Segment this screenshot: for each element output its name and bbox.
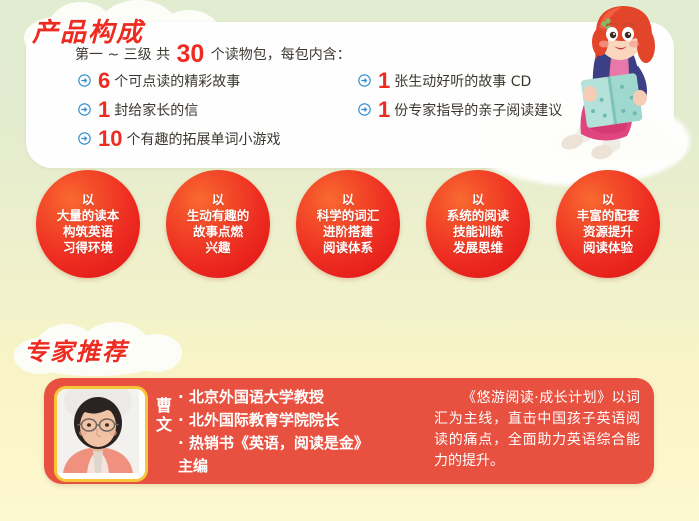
feature-lead: 以 xyxy=(577,192,640,208)
feature-circle-4: 以 系统的阅读 技能训练 发展思维 xyxy=(426,170,530,278)
feature-lead: 以 xyxy=(317,192,380,208)
feature-line: 习得环境 xyxy=(57,240,120,256)
product-bullets-left: 6 个可点读的精彩故事 1 封给家长的信 10 个有趣的拓展单词小游戏 xyxy=(78,66,368,153)
feature-circle-5-text: 以 丰富的配套 资源提升 阅读体验 xyxy=(577,192,640,256)
feature-lead: 以 xyxy=(447,192,510,208)
list-item-count: 6 xyxy=(98,70,110,92)
expert-quote: 《悠游阅读·成长计划》以词汇为主线，直击中国孩子英语阅读的痛点，全面助力英语综合… xyxy=(434,388,640,472)
expert-section-title: 专家推荐 xyxy=(24,332,128,367)
intro-prefix: 第一 ~ 三级 共 xyxy=(75,47,175,63)
feature-circle-3: 以 科学的词汇 进阶搭建 阅读体系 xyxy=(296,170,400,278)
credential-item: 主编 xyxy=(178,455,428,478)
girl-reading-book-illustration xyxy=(540,2,690,167)
list-item-label: 张生动好听的故事 CD xyxy=(394,71,531,91)
feature-line: 构筑英语 xyxy=(57,224,120,240)
product-intro-line: 第一 ~ 三级 共 30 个读物包，每包内含： xyxy=(75,40,351,69)
feature-line: 科学的词汇 xyxy=(317,208,380,224)
list-item-label: 个有趣的拓展单词小游戏 xyxy=(126,129,280,149)
feature-circle-row: 以 大量的读本 构筑英语 习得环境 以 生动有趣的 故事点燃 兴趣 以 科学的词… xyxy=(0,170,699,282)
list-item-count: 10 xyxy=(98,128,122,150)
feature-circle-2: 以 生动有趣的 故事点燃 兴趣 xyxy=(166,170,270,278)
feature-line: 资源提升 xyxy=(577,224,640,240)
promo-page: 产品构成 第一 ~ 三级 共 30 个读物包，每包内含： 6 个可点读的精彩故事… xyxy=(0,0,699,521)
expert-recommendation-card: 曹文 北京外国语大学教授 北外国际教育学院院长 热销书《英语，阅读是金》 主编 … xyxy=(44,378,654,484)
arrow-circle-icon xyxy=(78,74,91,87)
expert-portrait-frame xyxy=(54,386,148,482)
feature-line: 生动有趣的 xyxy=(187,208,250,224)
feature-line: 阅读体系 xyxy=(317,240,380,256)
feature-line: 进阶搭建 xyxy=(317,224,380,240)
feature-circle-4-text: 以 系统的阅读 技能训练 发展思维 xyxy=(447,192,510,256)
list-item: 1 封给家长的信 xyxy=(78,95,368,124)
feature-lead: 以 xyxy=(57,192,120,208)
intro-suffix: 个读物包，每包内含： xyxy=(206,47,350,63)
feature-circle-2-text: 以 生动有趣的 故事点燃 兴趣 xyxy=(187,192,250,256)
credential-item: 北京外国语大学教授 xyxy=(178,386,428,409)
feature-lead: 以 xyxy=(187,192,250,208)
credential-item: 北外国际教育学院院长 xyxy=(178,409,428,432)
feature-line: 阅读体验 xyxy=(577,240,640,256)
list-item-label: 封给家长的信 xyxy=(114,100,198,120)
list-item-label: 份专家指导的亲子阅读建议 xyxy=(394,100,562,120)
expert-name: 曹文 xyxy=(154,396,174,434)
credential-item: 热销书《英语，阅读是金》 xyxy=(178,432,428,455)
list-item: 6 个可点读的精彩故事 xyxy=(78,66,368,95)
feature-circle-1: 以 大量的读本 构筑英语 习得环境 xyxy=(36,170,140,278)
arrow-circle-icon xyxy=(358,103,371,116)
feature-line: 故事点燃 xyxy=(187,224,250,240)
feature-circle-3-text: 以 科学的词汇 进阶搭建 阅读体系 xyxy=(317,192,380,256)
list-item-count: 1 xyxy=(378,70,390,92)
list-item-count: 1 xyxy=(378,99,390,121)
feature-line: 丰富的配套 xyxy=(577,208,640,224)
expert-credentials: 北京外国语大学教授 北外国际教育学院院长 热销书《英语，阅读是金》 主编 xyxy=(178,386,428,478)
arrow-circle-icon xyxy=(78,132,91,145)
arrow-circle-icon xyxy=(358,74,371,87)
feature-line: 系统的阅读 xyxy=(447,208,510,224)
list-item-count: 1 xyxy=(98,99,110,121)
intro-pack-count: 30 xyxy=(175,40,207,68)
feature-line: 发展思维 xyxy=(447,240,510,256)
feature-circle-1-text: 以 大量的读本 构筑英语 习得环境 xyxy=(57,192,120,256)
feature-line: 技能训练 xyxy=(447,224,510,240)
feature-line: 兴趣 xyxy=(187,240,250,256)
feature-line: 大量的读本 xyxy=(57,208,120,224)
list-item: 10 个有趣的拓展单词小游戏 xyxy=(78,124,368,153)
expert-portrait-photo xyxy=(57,389,139,473)
feature-circle-5: 以 丰富的配套 资源提升 阅读体验 xyxy=(556,170,660,278)
expert-quote-text: 《悠游阅读·成长计划》以词汇为主线，直击中国孩子英语阅读的痛点，全面助力英语综合… xyxy=(434,390,640,469)
arrow-circle-icon xyxy=(78,103,91,116)
list-item-label: 个可点读的精彩故事 xyxy=(114,71,240,91)
